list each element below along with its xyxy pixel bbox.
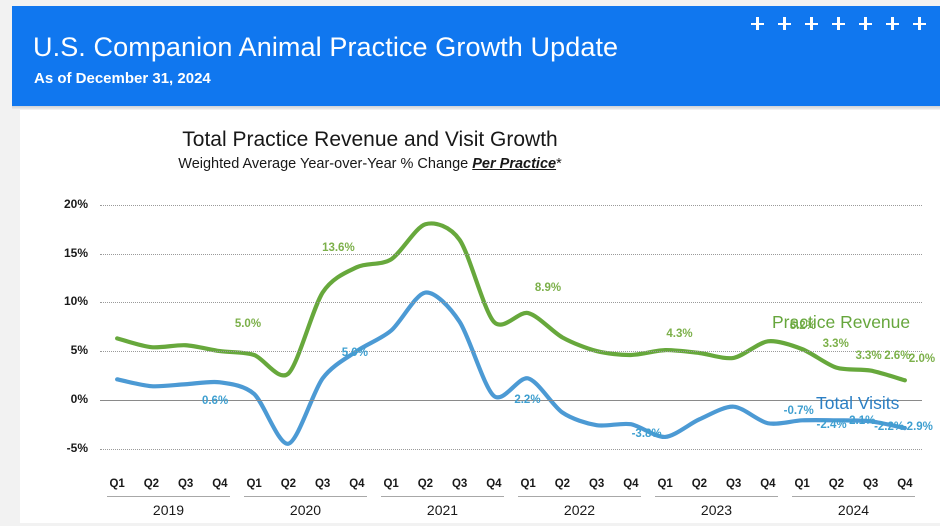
x-axis-quarter-label: Q3 (169, 478, 203, 490)
x-axis-year-label: 2024 (792, 502, 915, 518)
data-point-label: -2.2% (874, 421, 904, 433)
data-point-label: 3.3% (855, 350, 881, 362)
plus-icon (805, 17, 818, 30)
x-axis-year-label: 2019 (107, 502, 230, 518)
x-axis-quarter-label: Q1 (237, 478, 271, 490)
gridline (100, 302, 922, 303)
x-axis-year-group: 2019 (107, 496, 230, 524)
x-axis-quarter-label: Q4 (340, 478, 374, 490)
plus-icon (832, 17, 845, 30)
year-group-rule (655, 496, 778, 497)
x-axis-year-group: 2021 (381, 496, 504, 524)
x-axis-quarter-label: Q2 (682, 478, 716, 490)
y-axis-tick-label: -5% (42, 441, 88, 455)
year-group-rule (381, 496, 504, 497)
plus-icon (778, 17, 791, 30)
y-axis-tick-label: 10% (42, 294, 88, 308)
data-point-label: -2.9% (903, 421, 933, 433)
x-axis-quarter-label: Q3 (854, 478, 888, 490)
slide-page: U.S. Companion Animal Practice Growth Up… (0, 0, 940, 523)
x-axis-year-group: 2022 (518, 496, 641, 524)
data-point-label: 4.3% (666, 328, 692, 340)
data-point-label: -3.8% (632, 428, 662, 440)
x-axis-year-label: 2023 (655, 502, 778, 518)
year-group-rule (792, 496, 915, 497)
y-axis: -5%0%5%10%15%20% (42, 195, 88, 473)
x-axis-quarter-label: Q1 (511, 478, 545, 490)
data-point-label: -0.7% (784, 405, 814, 417)
x-axis-year-group: 2023 (655, 496, 778, 524)
x-axis-quarter-label: Q1 (648, 478, 682, 490)
data-point-label: 2.6% (884, 350, 910, 362)
x-axis-quarter-label: Q3 (306, 478, 340, 490)
x-axis-year-label: 2020 (244, 502, 367, 518)
x-axis-year-label: 2021 (381, 502, 504, 518)
data-point-label: -2.1% (845, 415, 875, 427)
y-axis-tick-label: 15% (42, 246, 88, 260)
year-group-rule (107, 496, 230, 497)
data-point-label: 3.3% (823, 338, 849, 350)
chart-subtitle: Weighted Average Year-over-Year % Change… (20, 156, 720, 172)
x-axis-quarter-label: Q2 (134, 478, 168, 490)
series-legend-label: Practice Revenue (772, 312, 910, 333)
chart-title: Total Practice Revenue and Visit Growth (20, 128, 720, 152)
series-legend-label: Total Visits (816, 393, 899, 414)
x-axis-year-group: 2020 (244, 496, 367, 524)
x-axis: Q1Q2Q3Q42019Q1Q2Q3Q42020Q1Q2Q3Q42021Q1Q2… (100, 478, 922, 526)
x-axis-quarter-label: Q4 (614, 478, 648, 490)
data-point-label: 8.9% (535, 282, 561, 294)
x-axis-quarter-label: Q2 (819, 478, 853, 490)
chart-subtitle-pre: Weighted Average Year-over-Year % Change (178, 156, 472, 172)
year-group-rule (244, 496, 367, 497)
x-axis-quarter-label: Q1 (100, 478, 134, 490)
data-point-label: 13.6% (322, 242, 355, 254)
x-axis-quarter-label: Q2 (545, 478, 579, 490)
page-title: U.S. Companion Animal Practice Growth Up… (33, 32, 618, 63)
x-axis-year-group: 2024 (792, 496, 915, 524)
y-axis-tick-label: 0% (42, 392, 88, 406)
gridline (100, 351, 922, 352)
x-axis-quarter-label: Q4 (477, 478, 511, 490)
x-axis-quarter-label: Q4 (751, 478, 785, 490)
x-axis-year-label: 2022 (518, 502, 641, 518)
x-axis-quarter-label: Q3 (717, 478, 751, 490)
y-axis-tick-label: 20% (42, 197, 88, 211)
y-axis-tick-label: 5% (42, 343, 88, 357)
x-axis-quarter-label: Q2 (271, 478, 305, 490)
chart-subtitle-asterisk: * (556, 156, 562, 172)
gridline (100, 449, 922, 450)
x-axis-quarter-label: Q3 (443, 478, 477, 490)
data-point-label: 2.2% (514, 394, 540, 406)
x-axis-quarter-label: Q1 (785, 478, 819, 490)
x-axis-quarter-label: Q1 (374, 478, 408, 490)
header-banner: U.S. Companion Animal Practice Growth Up… (12, 6, 940, 106)
data-point-label: -2.4% (817, 419, 847, 431)
gridline (100, 205, 922, 206)
x-axis-quarter-label: Q4 (203, 478, 237, 490)
plus-icon (913, 17, 926, 30)
series-lines (100, 195, 922, 473)
plus-icon (751, 17, 764, 30)
plus-icon (886, 17, 899, 30)
data-point-label: 0.6% (202, 395, 228, 407)
page-subtitle: As of December 31, 2024 (34, 70, 211, 87)
year-group-rule (518, 496, 641, 497)
chart-canvas: Total Practice Revenue and Visit Growth … (20, 110, 940, 523)
data-point-label: 2.0% (909, 353, 935, 365)
plus-icon (859, 17, 872, 30)
plot-area: 5.0%13.6%8.9%4.3%5.2%3.3%3.3%2.6%2.0%0.6… (100, 195, 922, 473)
chart-subtitle-emphasis: Per Practice (472, 156, 556, 172)
data-point-label: 5.0% (342, 347, 368, 359)
gridline (100, 254, 922, 255)
x-axis-quarter-label: Q3 (580, 478, 614, 490)
data-point-label: 5.0% (235, 318, 261, 330)
x-axis-quarter-label: Q4 (888, 478, 922, 490)
plus-decoration-row (751, 17, 926, 30)
header-divider (12, 106, 940, 109)
x-axis-quarter-label: Q2 (408, 478, 442, 490)
